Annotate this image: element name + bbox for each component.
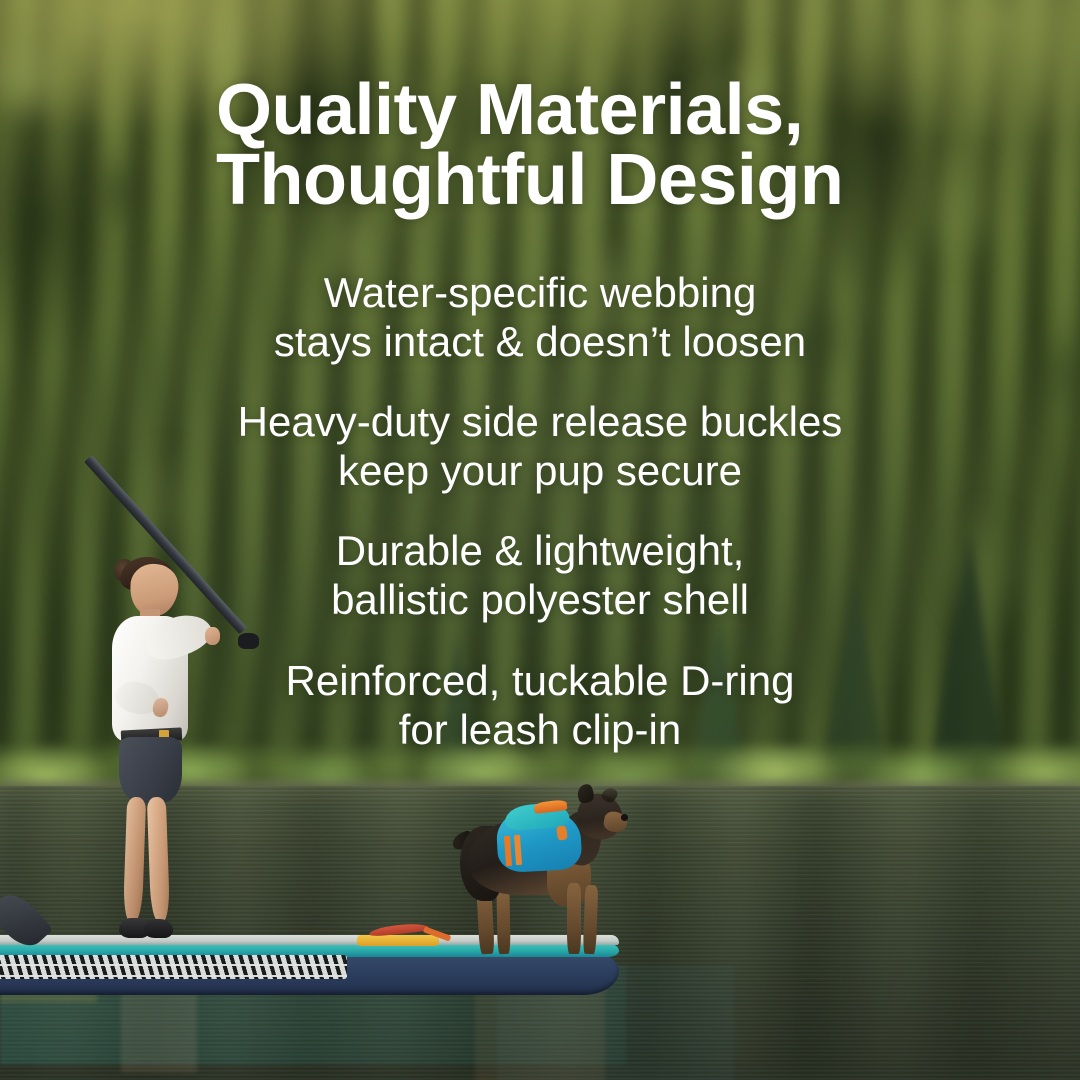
text-overlay: Quality Materials, Thoughtful Design Wat… [0,0,1080,1080]
headline-line-1: Quality Materials, [216,76,936,146]
feature-buckles-line-2: keep your pup secure [160,446,920,495]
feature-shell: Durable & lightweight, ballistic polyest… [160,526,920,624]
feature-d-ring: Reinforced, tuckable D-ring for leash cl… [160,656,920,754]
feature-shell-line-2: ballistic polyester shell [160,575,920,624]
feature-webbing-line-1: Water-specific webbing [160,268,920,317]
feature-webbing-line-2: stays intact & doesn’t loosen [160,317,920,366]
feature-buckles: Heavy-duty side release buckles keep you… [160,397,920,495]
page-title: Quality Materials, Thoughtful Design [216,76,936,216]
feature-d-ring-line-2: for leash clip-in [160,705,920,754]
headline-line-2: Thoughtful Design [216,146,936,216]
feature-buckles-line-1: Heavy-duty side release buckles [160,397,920,446]
promo-image: Quality Materials, Thoughtful Design Wat… [0,0,1080,1080]
feature-shell-line-1: Durable & lightweight, [160,526,920,575]
feature-d-ring-line-1: Reinforced, tuckable D-ring [160,656,920,705]
feature-webbing: Water-specific webbing stays intact & do… [160,268,920,366]
